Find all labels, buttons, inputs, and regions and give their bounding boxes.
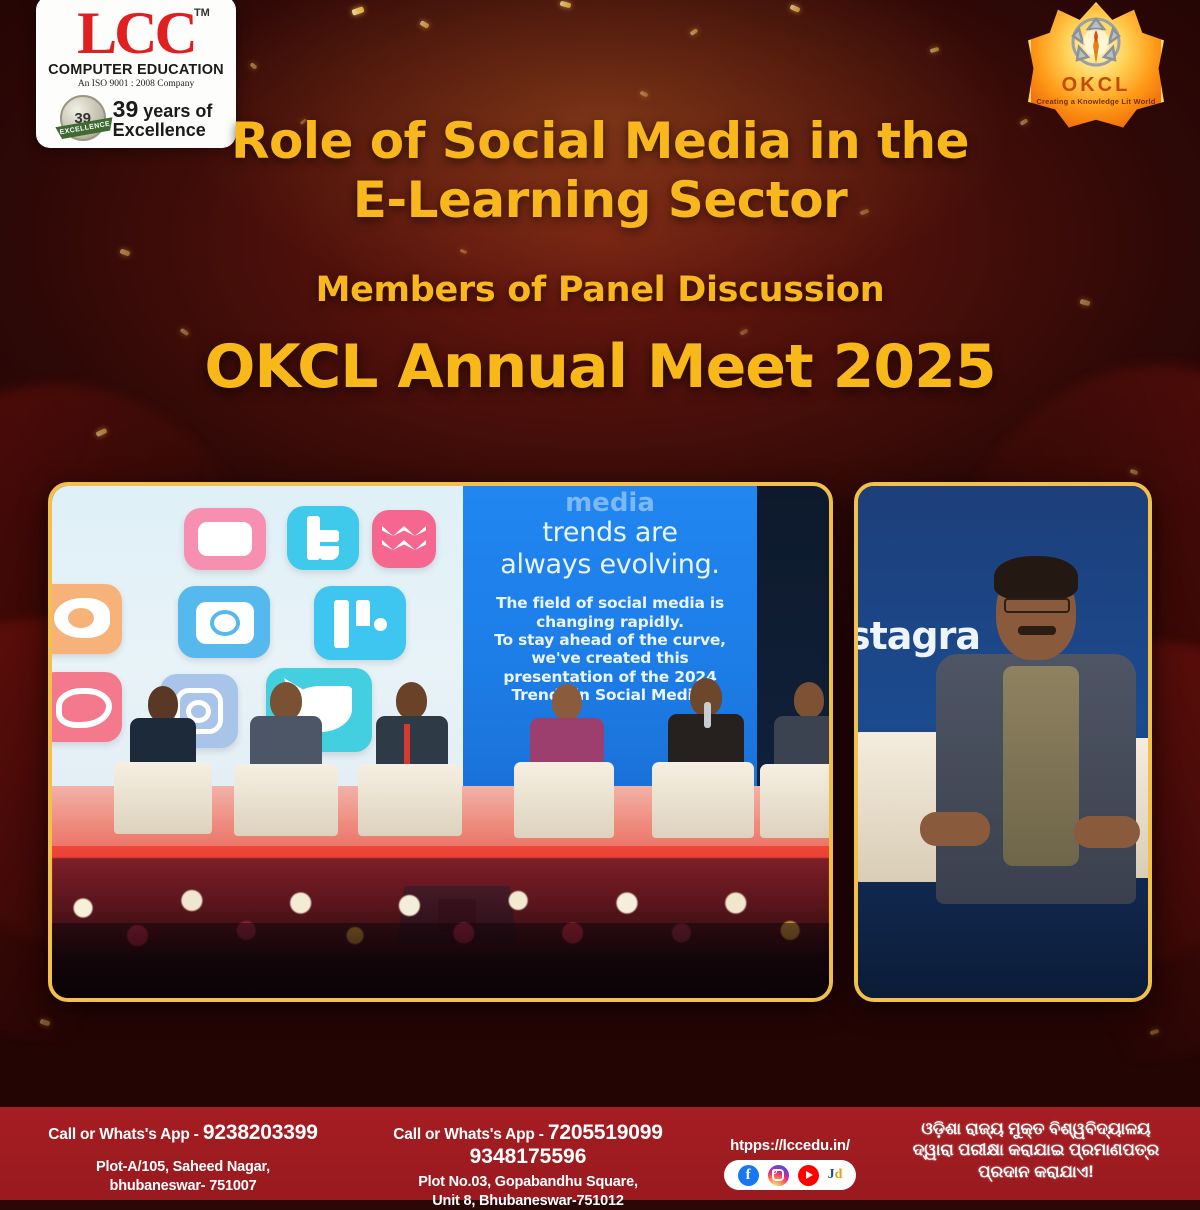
- social-links-pill: f Jd: [724, 1160, 856, 1190]
- chair-4: [514, 762, 614, 838]
- wall-icon-orange-blob: [52, 584, 122, 654]
- chair-3: [358, 764, 462, 836]
- photo-right-content: stagra: [858, 486, 1148, 998]
- photo-left-content: media trends are always evolving. The fi…: [52, 486, 829, 998]
- odia-line-2: ଦ୍ୱାରା ପରୀକ୍ଷା କରାଯାଇ ପ୍ରମାଣପତ୍ର: [880, 1140, 1192, 1161]
- wall-icon-teal-flag: [314, 586, 406, 660]
- headline: OKCL Annual Meet 2025: [0, 332, 1200, 402]
- slide-heading-line2: always evolving.: [471, 550, 749, 580]
- wall-icon-pink-eye: [52, 672, 122, 742]
- facebook-icon[interactable]: f: [738, 1165, 759, 1186]
- title-block: Role of Social Media in the E-Learning S…: [0, 112, 1200, 402]
- lcc-wordmark: LCC TM: [77, 6, 195, 61]
- okcl-lamp-emblem-icon: [1065, 16, 1127, 76]
- subtitle: Members of Panel Discussion: [0, 270, 1200, 310]
- slide-heading-line1: trends are: [471, 518, 749, 548]
- right-person-moustache: [1018, 626, 1056, 635]
- okcl-tagline: Creating a Knowledge Lit World: [1028, 97, 1164, 106]
- website-url[interactable]: htpps://lccedu.in/: [700, 1137, 880, 1154]
- okcl-wordmark: OKCL: [1028, 74, 1164, 97]
- right-person-hand-left: [920, 812, 990, 846]
- chair-5: [652, 762, 754, 838]
- photo-bottom-shadow: [52, 923, 829, 998]
- backdrop-instagram-text: stagra: [858, 614, 980, 658]
- contact2-address: Plot No.03, Gopabandhu Square, Unit 8, B…: [358, 1173, 698, 1210]
- panel-photo-right: stagra: [854, 482, 1152, 1002]
- right-person-glasses: [1004, 598, 1070, 613]
- contact2-address-line1: Plot No.03, Gopabandhu Square,: [358, 1173, 698, 1192]
- slide-body-line4: we've created this: [471, 649, 749, 667]
- lcc-wordmark-text: LCC: [77, 0, 195, 66]
- footer-odia-block: ଓଡ଼ିଶା ରାଜ୍ୟ ମୁକ୍ତ ବିଶ୍ୱବିଦ୍ୟାଳୟ ଦ୍ୱାରା …: [880, 1119, 1192, 1183]
- okcl-logo: OKCL Creating a Knowledge Lit World: [1028, 2, 1164, 130]
- contact1-address: Plot-A/105, Saheed Nagar, bhubaneswar- 7…: [8, 1158, 358, 1195]
- justdial-icon[interactable]: Jd: [828, 1165, 843, 1186]
- footer-contact-2: Call or Whats's App - 7205519099 9348175…: [358, 1121, 698, 1210]
- contact1-label: Call or Whats's App -: [48, 1126, 198, 1143]
- contact2-call-line: Call or Whats's App - 7205519099: [358, 1121, 698, 1145]
- wall-icon-tumblr: [287, 506, 359, 570]
- contact1-address-line2: bhubaneswar- 751007: [8, 1177, 358, 1196]
- main-title-line2: E-Learning Sector: [0, 171, 1200, 230]
- slide-body-line3: To stay ahead of the curve,: [471, 631, 749, 649]
- lcc-iso-text: An ISO 9001 : 2008 Company: [78, 79, 194, 89]
- contact1-call-line: Call or Whats's App - 9238203399: [8, 1121, 358, 1145]
- chair-2: [234, 764, 338, 836]
- wall-icon-wave: [372, 510, 436, 568]
- panel-photo-left: media trends are always evolving. The fi…: [48, 482, 833, 1002]
- right-person-hand-right: [1074, 816, 1140, 848]
- right-chair-left: [858, 732, 948, 882]
- right-person-vest: [1003, 666, 1079, 866]
- slide-body-line2: changing rapidly.: [471, 613, 749, 631]
- contact2-label: Call or Whats's App -: [393, 1126, 543, 1143]
- wall-icon-blue-camera: [178, 586, 270, 658]
- footer-web-block: htpps://lccedu.in/ f Jd: [700, 1137, 880, 1190]
- footer-contact-1: Call or Whats's App - 9238203399 Plot-A/…: [8, 1121, 358, 1195]
- contact2-phone-1[interactable]: 7205519099: [548, 1121, 663, 1144]
- contact1-phone[interactable]: 9238203399: [203, 1121, 318, 1144]
- youtube-icon[interactable]: [798, 1165, 819, 1186]
- chair-6: [760, 764, 829, 838]
- contact1-address-line1: Plot-A/105, Saheed Nagar,: [8, 1158, 358, 1177]
- footer-bar: Call or Whats's App - 9238203399 Plot-A/…: [0, 1107, 1200, 1200]
- right-person-hair: [994, 556, 1078, 600]
- wall-icon-pink-camera: [184, 508, 266, 570]
- contact2-phone-2[interactable]: 9348175596: [358, 1145, 698, 1169]
- main-title: Role of Social Media in the E-Learning S…: [0, 112, 1200, 230]
- trademark-icon: TM: [194, 8, 210, 18]
- slide-body-line1: The field of social media is: [471, 594, 749, 612]
- odia-line-3: ପ୍ରଦାନ କରାଯାଏ!: [880, 1162, 1192, 1183]
- slide-cut-line: media: [471, 490, 749, 516]
- instagram-icon[interactable]: [768, 1165, 789, 1186]
- poster-root: LCC TM COMPUTER EDUCATION An ISO 9001 : …: [0, 0, 1200, 1200]
- chair-1: [114, 762, 212, 834]
- odia-line-1: ଓଡ଼ିଶା ରାଜ୍ୟ ମୁକ୍ତ ବିଶ୍ୱବିଦ୍ୟାଳୟ: [880, 1119, 1192, 1140]
- contact2-address-line2: Unit 8, Bhubaneswar-751012: [358, 1192, 698, 1210]
- main-title-line1: Role of Social Media in the: [0, 112, 1200, 171]
